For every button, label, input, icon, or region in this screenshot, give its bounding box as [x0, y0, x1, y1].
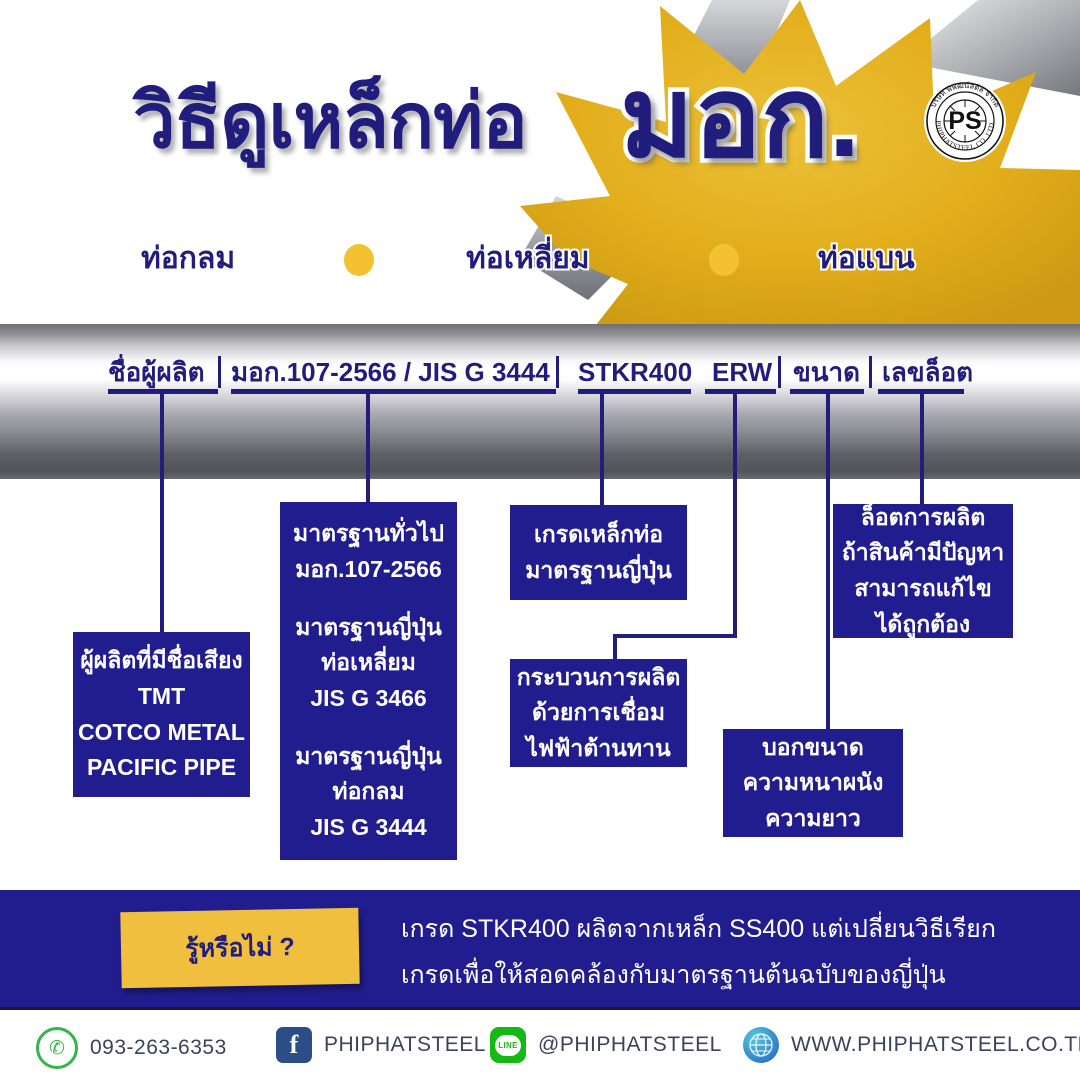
callout-line: มอก.107-2566	[295, 552, 442, 588]
sticky-note-badge: รู้หรือไม่ ?	[120, 908, 359, 989]
pipe-type-square: ท่อเหลี่ยม	[466, 236, 590, 282]
callout-line: ด้วยการเชื่อม	[532, 695, 665, 731]
facebook-icon: f	[276, 1027, 312, 1063]
callout-line: บอกขนาด	[762, 730, 864, 766]
callout-box-lot: ล็อตการผลิต ถ้าสินค้ามีปัญหา สามารถแก้ไข…	[833, 504, 1013, 638]
phone-number: 093-263-6353	[90, 1036, 227, 1060]
callout-line: ผู้ผลิตที่มีชื่อเสียง	[80, 643, 242, 679]
page-title-accent: มอก.	[620, 62, 860, 174]
marking-manufacturer: ชื่อผู้ผลิต	[108, 352, 205, 392]
marking-separator-2	[556, 356, 559, 388]
contact-line[interactable]: LINE @PHIPHATSTEEL	[490, 1027, 722, 1063]
marking-separator-1	[218, 356, 221, 388]
pipe-type-list: ท่อกลม ท่อเหลี่ยม ท่อแบน	[0, 236, 1080, 282]
leader-line-size	[826, 389, 830, 729]
marking-lot: เลขล็อต	[882, 352, 973, 392]
did-you-know-banner: รู้หรือไม่ ? เกรด STKR400 ผลิตจากเหล็ก S…	[0, 890, 1080, 1010]
callout-line: เกรดเหล็กท่อ	[534, 517, 663, 553]
header-banner: วิธีดูเหล็กท่อ มอก. บริษัท พิพัฒน์สตีล จ…	[0, 0, 1080, 325]
leader-line-grade	[600, 389, 604, 508]
callout-line: ท่อกลม	[332, 774, 404, 810]
callout-line: มาตรฐานทั่วไป	[293, 516, 444, 552]
leader-line-process-v1	[733, 389, 737, 636]
leader-line-lot	[920, 389, 924, 504]
banner-line: เกรด STKR400 ผลิตจากเหล็ก SS400 แต่เปลี่…	[401, 906, 1061, 952]
callout-line: ได้ถูกต้อง	[876, 607, 970, 643]
callout-line: TMT	[138, 679, 185, 715]
callout-line: ถ้าสินค้ามีปัญหา	[842, 535, 1004, 571]
callout-line: ความยาว	[765, 801, 861, 837]
banner-line: เกรดเพื่อให้สอดคล้องกับมาตรฐานต้นฉบับของ…	[401, 952, 1061, 998]
underline-standard	[231, 389, 556, 394]
phone-icon: ✆	[36, 1027, 78, 1069]
callout-line: ความหนาผนัง	[743, 765, 884, 801]
pipe-marking-row: ชื่อผู้ผลิต มอก.107-2566 / JIS G 3444 ST…	[0, 352, 1080, 392]
callout-box-grade: เกรดเหล็กท่อ มาตรฐานญี่ปุ่น	[510, 505, 687, 600]
underline-process	[705, 389, 776, 394]
callout-box-manufacturer: ผู้ผลิตที่มีชื่อเสียง TMT COTCO METAL PA…	[73, 632, 250, 797]
callout-line: มาตรฐานญี่ปุ่น	[295, 610, 442, 646]
globe-icon	[743, 1027, 779, 1063]
footer-contact-bar: ✆ 093-263-6353 f PHIPHATSTEEL LINE @PHIP…	[0, 1010, 1080, 1080]
marking-separator-3	[778, 356, 781, 388]
page-title: วิธีดูเหล็กท่อ	[133, 84, 527, 160]
callout-line: สามารถแก้ไข	[854, 571, 991, 607]
contact-website[interactable]: WWW.PHIPHATSTEEL.CO.TH	[743, 1027, 1080, 1063]
leader-line-manufacturer	[160, 389, 164, 634]
marking-size: ขนาด	[793, 352, 860, 392]
banner-text-block: เกรด STKR400 ผลิตจากเหล็ก SS400 แต่เปลี่…	[401, 906, 1061, 999]
callout-line: PACIFIC PIPE	[87, 750, 236, 786]
callout-line: COTCO METAL	[78, 715, 245, 751]
marking-separator-4	[869, 356, 872, 388]
line-handle: @PHIPHATSTEEL	[538, 1033, 722, 1057]
bullet-dot-1	[344, 244, 374, 276]
pipe-type-flat: ท่อแบน	[818, 236, 915, 282]
callout-line: JIS G 3466	[310, 681, 426, 717]
leader-line-standard	[366, 389, 370, 502]
callout-box-standard: มาตรฐานทั่วไป มอก.107-2566 มาตรฐานญี่ปุ่…	[280, 502, 457, 860]
pipe-type-round: ท่อกลม	[141, 236, 235, 282]
ps-company-logo: บริษัท พิพัฒน์สตีล จำกัด PHIPHATSTEEL CO…	[923, 79, 1007, 163]
callout-line: ล็อตการผลิต	[861, 500, 986, 536]
website-url: WWW.PHIPHATSTEEL.CO.TH	[791, 1033, 1080, 1057]
callout-box-process: กระบวนการผลิต ด้วยการเชื่อม ไฟฟ้าต้านทาน	[510, 659, 687, 767]
callout-line: ไฟฟ้าต้านทาน	[526, 731, 670, 767]
callout-line: มาตรฐานญี่ปุ่น	[525, 553, 672, 589]
marking-grade: STKR400	[578, 352, 692, 392]
callout-line: กระบวนการผลิต	[517, 660, 681, 696]
marking-process: ERW	[712, 352, 772, 392]
line-icon: LINE	[490, 1027, 526, 1063]
contact-phone[interactable]: ✆ 093-263-6353	[36, 1027, 227, 1069]
callout-line: ท่อเหลี่ยม	[321, 645, 416, 681]
contact-facebook[interactable]: f PHIPHATSTEEL	[276, 1027, 486, 1063]
bullet-dot-2	[709, 244, 739, 276]
sticky-note-label: รู้หรือไม่ ?	[185, 927, 295, 969]
callout-line: มาตรฐานญี่ปุ่น	[295, 739, 442, 775]
underline-grade	[578, 389, 691, 394]
callout-line: JIS G 3444	[310, 810, 426, 846]
leader-line-process-v2	[613, 634, 617, 660]
svg-text:PS: PS	[948, 107, 981, 135]
marking-standard: มอก.107-2566 / JIS G 3444	[231, 352, 550, 392]
facebook-handle: PHIPHATSTEEL	[324, 1033, 486, 1057]
callout-box-size: บอกขนาด ความหนาผนัง ความยาว	[723, 729, 903, 837]
leader-line-process-h	[613, 634, 737, 638]
